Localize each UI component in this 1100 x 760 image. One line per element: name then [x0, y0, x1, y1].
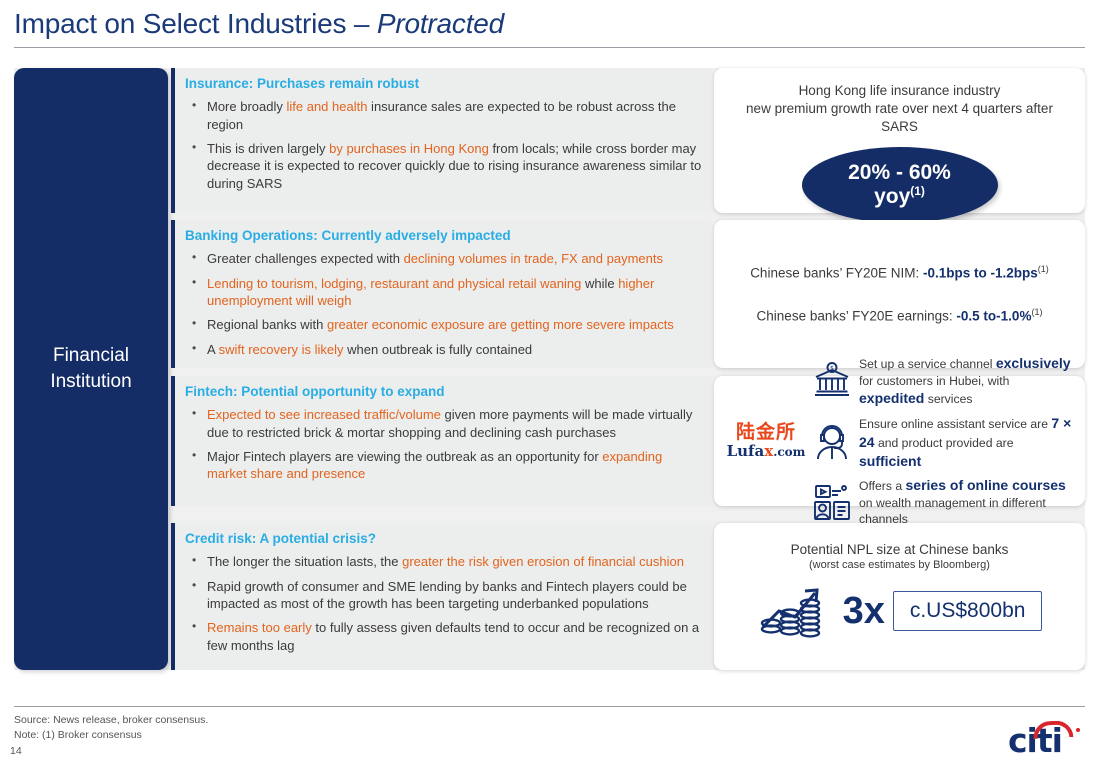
stat-earnings-footnote: (1) — [1031, 307, 1042, 317]
bullet-item: Rapid growth of consumer and SME lending… — [185, 578, 703, 613]
citi-logo: citi — [1006, 718, 1086, 754]
bullet-text: Greater challenges expected with — [207, 251, 404, 266]
bullet-list-fintech: Expected to see increased traffic/volume… — [185, 406, 703, 483]
bank-icon: $ — [812, 361, 852, 401]
bullet-item: Expected to see increased traffic/volume… — [185, 406, 703, 441]
bullet-text: Major Fintech players are viewing the ou… — [207, 449, 602, 464]
plain-text: on wealth management in different channe… — [859, 496, 1046, 526]
bullet-text: A — [207, 342, 219, 357]
citi-dot-icon — [1076, 728, 1080, 732]
emphasis-text: series of online courses — [906, 477, 1066, 493]
page-number: 14 — [10, 745, 22, 757]
growth-coins-chart-icon — [757, 577, 835, 644]
bullet-text: This is driven largely — [207, 141, 329, 156]
bullet-item: Regional banks with greater economic exp… — [185, 316, 703, 333]
sidebar-label: FinancialInstitution — [50, 343, 131, 394]
card-insurance-growth: Hong Kong life insurance industrynew pre… — [714, 68, 1085, 213]
bullet-item: Major Fintech players are viewing the ou… — [185, 448, 703, 483]
stat-footnote: (1) — [910, 184, 925, 198]
plain-text: Ensure online assistant service are — [859, 417, 1051, 431]
title-divider — [14, 47, 1085, 48]
section-heading-fintech: Fintech: Potential opportunity to expand — [185, 384, 703, 400]
stat-earnings: Chinese banks’ FY20E earnings: -0.5 to-1… — [728, 307, 1071, 324]
section-heading-insurance: Insurance: Purchases remain robust — [185, 76, 703, 92]
lufax-logo: 陆金所 Lufax.com — [720, 423, 812, 459]
plain-text: for customers in Hubei, with — [859, 374, 1009, 388]
card-fintech-lufax: 陆金所 Lufax.com $Set up a service channel … — [714, 376, 1085, 506]
highlight-text: by purchases in Hong Kong — [329, 141, 489, 156]
bullet-text: The longer the situation lasts, the — [207, 554, 402, 569]
lufax-feature-text: Ensure online assistant service are 7 × … — [859, 414, 1077, 470]
page-title-emphasis: Protracted — [377, 8, 504, 39]
highlight-text: Lending to tourism, lodging, restaurant … — [207, 276, 581, 291]
emphasis-text: expedited — [859, 390, 924, 406]
emphasis-text: sufficient — [859, 453, 921, 469]
text-block-banking: Banking Operations: Currently adversely … — [171, 220, 711, 368]
highlight-text: swift recovery is likely — [219, 342, 344, 357]
lufax-feature-text: Offers a series of online courses on wea… — [859, 476, 1077, 527]
highlight-text: declining volumes in trade, FX and payme… — [404, 251, 663, 266]
svg-text:$: $ — [830, 365, 834, 372]
card-insurance-title: Hong Kong life insurance industrynew pre… — [730, 82, 1069, 137]
section-heading-credit-risk: Credit risk: A potential crisis? — [185, 531, 703, 547]
highlight-text: greater the risk given erosion of financ… — [402, 554, 684, 569]
online-course-icon — [812, 482, 852, 522]
bullet-text: while — [581, 276, 618, 291]
npl-multiplier: 3x — [843, 592, 885, 630]
bullet-text: Regional banks with — [207, 317, 327, 332]
card-npl-title: Potential NPL size at Chinese banks — [728, 541, 1071, 559]
footer-divider — [14, 706, 1085, 707]
footer-notes: Source: News release, broker consensus. … — [14, 713, 208, 743]
text-block-credit-risk: Credit risk: A potential crisis? The lon… — [171, 523, 711, 670]
lufax-logo-latin: Lufax.com — [720, 443, 812, 460]
bullet-list-insurance: More broadly life and health insurance s… — [185, 98, 703, 192]
headset-agent-icon — [812, 422, 852, 462]
stat-earnings-label: Chinese banks’ FY20E earnings: — [757, 308, 957, 323]
text-block-fintech: Fintech: Potential opportunity to expand… — [171, 376, 711, 506]
bullet-item: A swift recovery is likely when outbreak… — [185, 341, 703, 358]
stat-nim-footnote: (1) — [1038, 264, 1049, 274]
highlight-text: life and health — [286, 99, 367, 114]
bullet-list-banking: Greater challenges expected with declini… — [185, 250, 703, 358]
bullet-text: when outbreak is fully contained — [344, 342, 533, 357]
bullet-list-credit-risk: The longer the situation lasts, the grea… — [185, 553, 703, 654]
card-banking-stats: Chinese banks’ FY20E NIM: -0.1bps to -1.… — [714, 220, 1085, 368]
bullet-text: Rapid growth of consumer and SME lending… — [207, 579, 687, 611]
slide: Impact on Select Industries – Protracted… — [0, 0, 1100, 760]
stat-value: 20% - 60% — [848, 161, 951, 185]
bullet-item: Lending to tourism, lodging, restaurant … — [185, 275, 703, 310]
lufax-feature-row: $Set up a service channel exclusively fo… — [812, 354, 1077, 408]
stat-unit: yoy(1) — [874, 185, 925, 209]
highlight-text: greater economic exposure are getting mo… — [327, 317, 674, 332]
stat-nim-label: Chinese banks’ FY20E NIM: — [750, 266, 923, 281]
lufax-logo-chinese: 陆金所 — [720, 423, 812, 443]
section-heading-banking: Banking Operations: Currently adversely … — [185, 228, 703, 244]
lufax-feature-row: Offers a series of online courses on wea… — [812, 476, 1077, 527]
plain-text: Set up a service channel — [859, 357, 996, 371]
bullet-item: Greater challenges expected with declini… — [185, 250, 703, 267]
stat-nim-value: -0.1bps to -1.2bps — [923, 266, 1038, 281]
text-block-insurance: Insurance: Purchases remain robust More … — [171, 68, 711, 213]
stat-oval-insurance: 20% - 60% yoy(1) — [802, 147, 998, 223]
bullet-item: Remains too early to fully assess given … — [185, 619, 703, 654]
bullet-item: This is driven largely by purchases in H… — [185, 140, 703, 192]
card-credit-npl: Potential NPL size at Chinese banks (wor… — [714, 523, 1085, 670]
page-title: Impact on Select Industries – Protracted — [14, 8, 504, 40]
content-canvas: FinancialInstitution Insurance: Purchase… — [14, 68, 1085, 670]
footer-note: Note: (1) Broker consensus — [14, 728, 208, 743]
highlight-text: Expected to see increased traffic/volume — [207, 407, 441, 422]
bullet-item: More broadly life and health insurance s… — [185, 98, 703, 133]
sidebar-financial-institution: FinancialInstitution — [14, 68, 168, 670]
emphasis-text: exclusively — [996, 355, 1071, 371]
bullet-text: More broadly — [207, 99, 286, 114]
page-title-main: Impact on Select Industries – — [14, 8, 377, 39]
plain-text: Offers a — [859, 479, 906, 493]
stat-earnings-value: -0.5 to-1.0% — [956, 308, 1031, 323]
lufax-feature-text: Set up a service channel exclusively for… — [859, 354, 1077, 408]
footer-source: Source: News release, broker consensus. — [14, 713, 208, 728]
plain-text: and product provided are — [875, 436, 1014, 450]
highlight-text: Remains too early — [207, 620, 312, 635]
card-npl-subtitle: (worst case estimates by Bloomberg) — [728, 559, 1071, 571]
npl-amount-box: c.US$800bn — [893, 591, 1043, 631]
lufax-feature-row: Ensure online assistant service are 7 × … — [812, 414, 1077, 470]
bullet-item: The longer the situation lasts, the grea… — [185, 553, 703, 570]
stat-nim: Chinese banks’ FY20E NIM: -0.1bps to -1.… — [728, 264, 1071, 281]
plain-text: services — [924, 392, 972, 406]
